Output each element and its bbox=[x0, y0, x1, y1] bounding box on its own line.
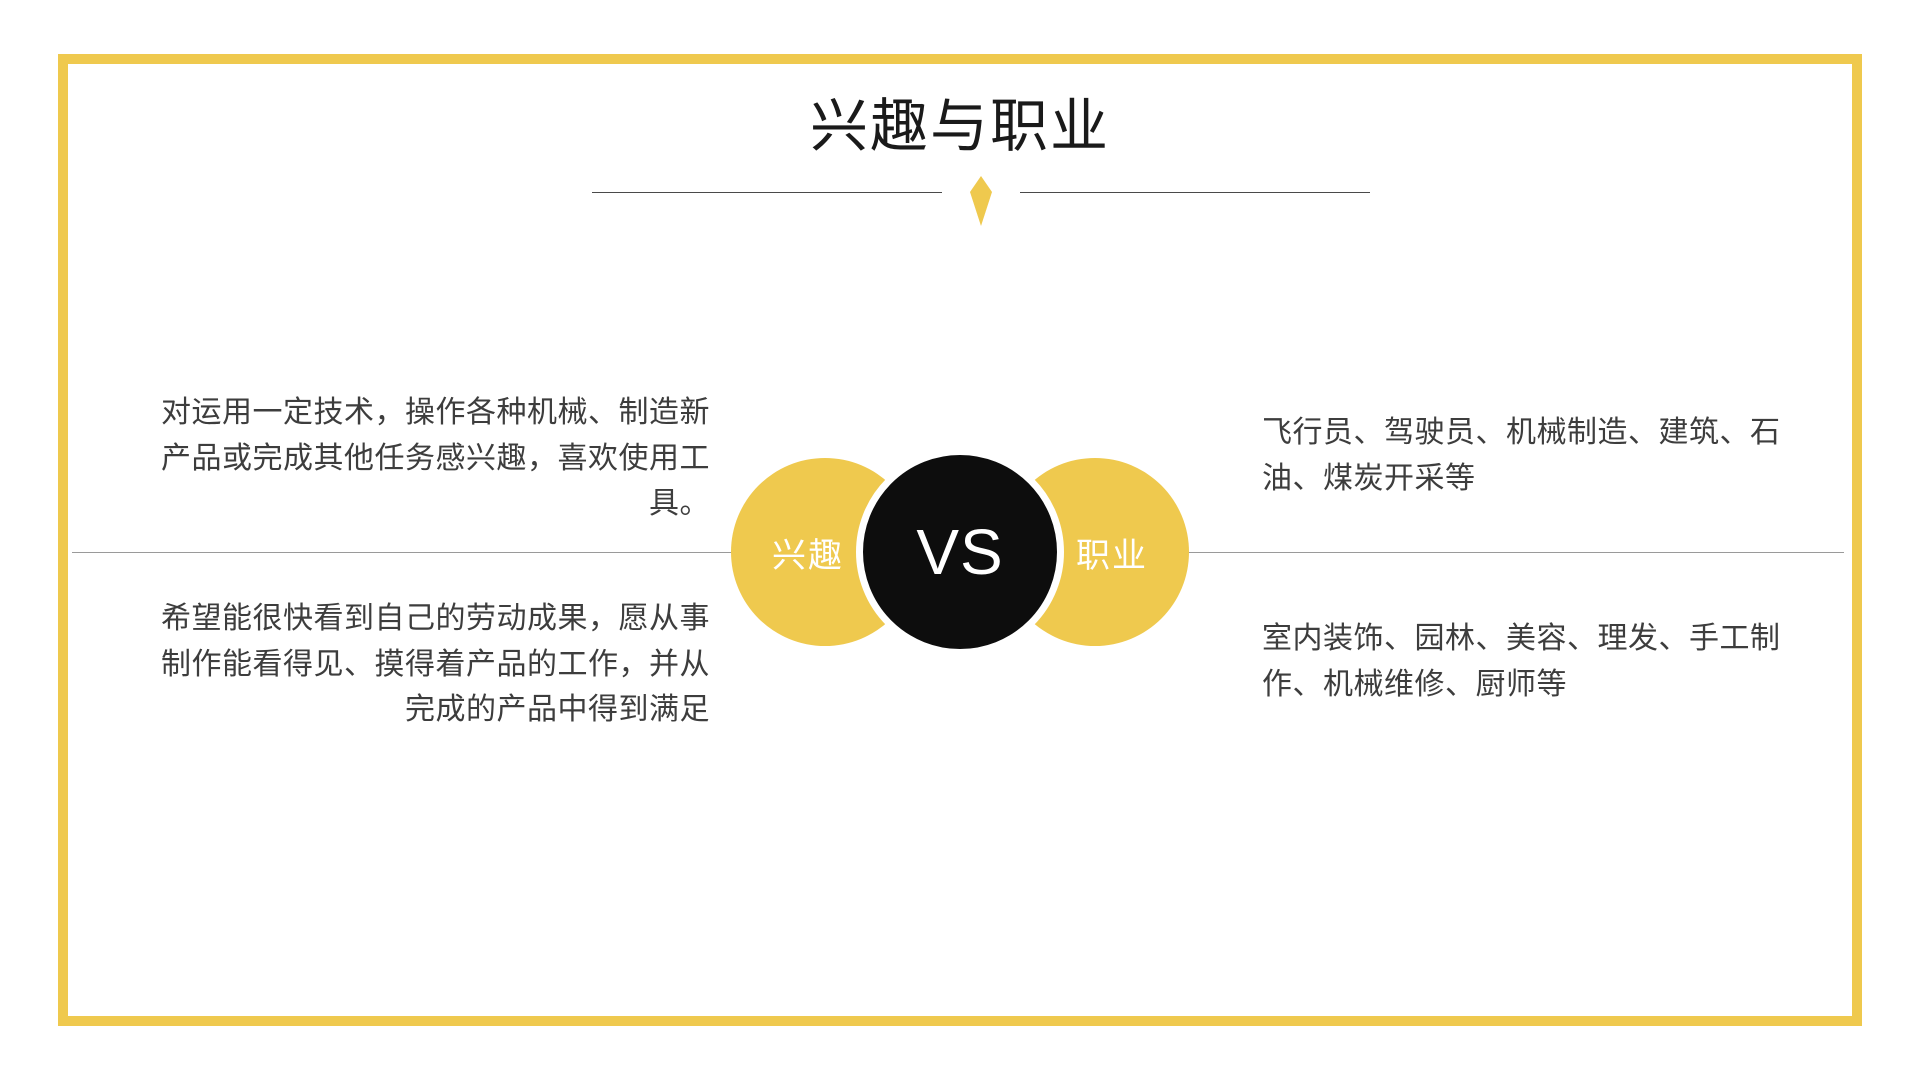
vs-badge: VS bbox=[856, 448, 1064, 656]
divider-rule-right bbox=[1020, 192, 1370, 193]
career-list-bottom: 室内装饰、园林、美容、理发、手工制作、机械维修、厨师等 bbox=[1262, 616, 1782, 707]
slide-canvas: 兴趣与职业 兴趣 职业 VS 对运用一定技术，操作各种机械、制造新产品或完成其他… bbox=[0, 0, 1920, 1080]
page-title: 兴趣与职业 bbox=[0, 98, 1920, 156]
interest-description-top: 对运用一定技术，操作各种机械、制造新产品或完成其他任务感兴趣，喜欢使用工具。 bbox=[150, 390, 710, 527]
career-list-top: 飞行员、驾驶员、机械制造、建筑、石油、煤炭开采等 bbox=[1262, 410, 1782, 501]
divider-rule-left bbox=[592, 192, 942, 193]
diamond-ornament-icon bbox=[970, 176, 992, 226]
vs-comparison-graphic: 兴趣 职业 VS bbox=[731, 448, 1189, 656]
title-divider-ornament bbox=[592, 176, 1370, 228]
interest-description-bottom: 希望能很快看到自己的劳动成果，愿从事制作能看得见、摸得着产品的工作，并从完成的产… bbox=[150, 596, 710, 733]
